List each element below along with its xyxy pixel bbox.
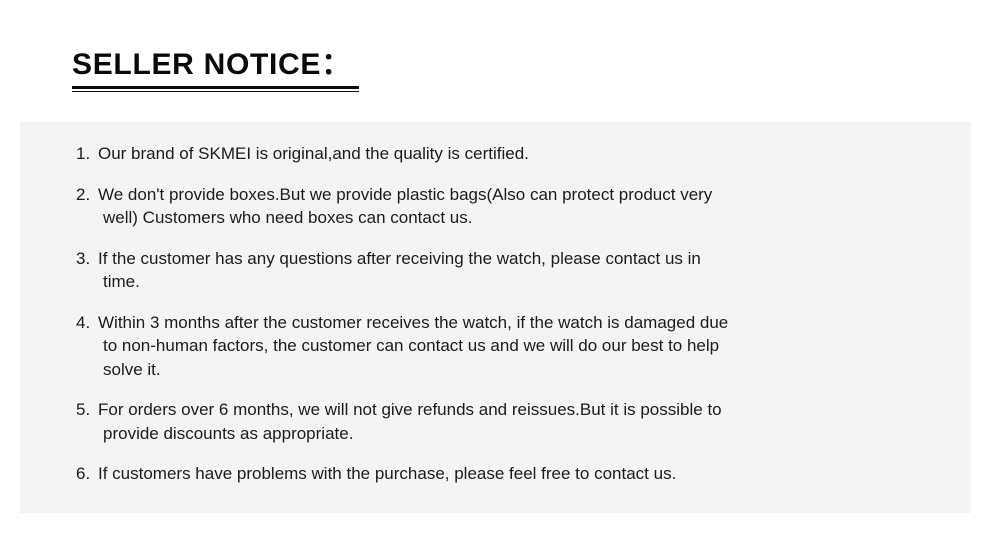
list-item-line: For orders over 6 months, we will not gi… xyxy=(98,400,722,419)
list-item-number: 5. xyxy=(76,398,98,422)
list-item-continuation-line: time. xyxy=(98,270,941,294)
notice-header: SELLER NOTICE： xyxy=(72,50,932,80)
page-title-colon: ： xyxy=(321,48,351,81)
list-item-text: Within 3 months after the customer recei… xyxy=(98,311,941,382)
list-item-text: For orders over 6 months, we will not gi… xyxy=(98,398,941,445)
list-item-continuation-line: provide discounts as appropriate. xyxy=(98,422,941,446)
list-item-continuation-line: solve it. xyxy=(98,358,941,382)
list-item: 6.If customers have problems with the pu… xyxy=(76,462,941,486)
notice-list: 1.Our brand of SKMEI is original,and the… xyxy=(76,142,941,486)
list-item-number: 1. xyxy=(76,142,98,166)
title-underline-rule xyxy=(72,86,359,92)
list-item: 1.Our brand of SKMEI is original,and the… xyxy=(76,142,941,166)
list-item-text: If the customer has any questions after … xyxy=(98,247,941,294)
page-title-text: SELLER NOTICE xyxy=(72,48,321,81)
list-item-text: If customers have problems with the purc… xyxy=(98,462,941,486)
seller-notice-panel: 1.Our brand of SKMEI is original,and the… xyxy=(20,122,971,513)
list-item-number: 6. xyxy=(76,462,98,486)
list-item: 4.Within 3 months after the customer rec… xyxy=(76,311,941,382)
list-item-number: 3. xyxy=(76,247,98,271)
list-item-number: 4. xyxy=(76,311,98,335)
list-item-continuation-line: well) Customers who need boxes can conta… xyxy=(98,206,941,230)
list-item-line: Our brand of SKMEI is original,and the q… xyxy=(98,144,529,163)
page-title: SELLER NOTICE： xyxy=(72,50,932,80)
title-underline-thin xyxy=(72,91,359,92)
list-item-text: Our brand of SKMEI is original,and the q… xyxy=(98,142,941,166)
list-item-line: If the customer has any questions after … xyxy=(98,249,701,268)
list-item-continuation-line: to non-human factors, the customer can c… xyxy=(98,334,941,358)
title-underline-thick xyxy=(72,86,359,89)
list-item: 3.If the customer has any questions afte… xyxy=(76,247,941,294)
list-item: 2.We don't provide boxes.But we provide … xyxy=(76,183,941,230)
list-item-line: We don't provide boxes.But we provide pl… xyxy=(98,185,712,204)
list-item-text: We don't provide boxes.But we provide pl… xyxy=(98,183,941,230)
list-item-number: 2. xyxy=(76,183,98,207)
list-item-line: If customers have problems with the purc… xyxy=(98,464,676,483)
list-item: 5.For orders over 6 months, we will not … xyxy=(76,398,941,445)
list-item-line: Within 3 months after the customer recei… xyxy=(98,313,728,332)
